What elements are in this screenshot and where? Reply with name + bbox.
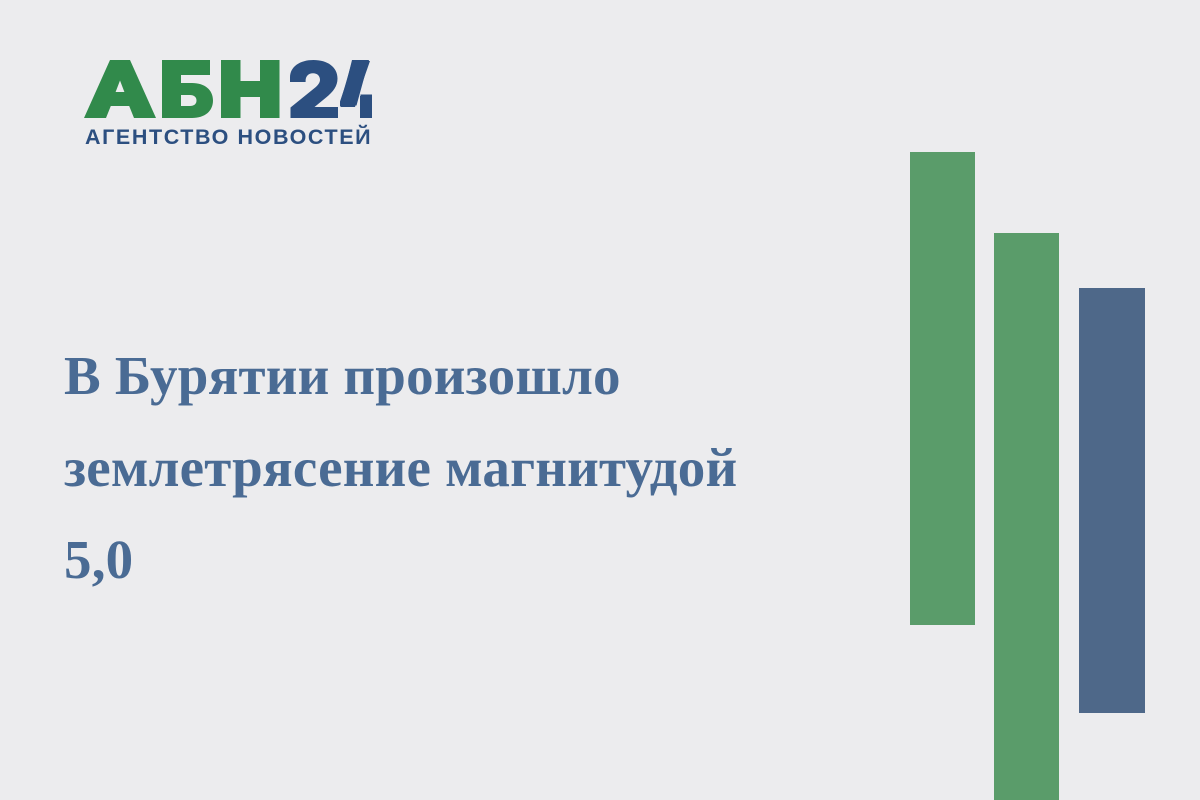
logo-tagline: АГЕНТСТВО НОВОСТЕЙ	[85, 127, 374, 149]
headline-line-2: землетрясение магнитудой	[64, 422, 864, 514]
abn24-wordmark-icon	[84, 60, 372, 120]
decorative-bar-2	[994, 233, 1059, 800]
site-logo[interactable]: АГЕНТСТВО НОВОСТЕЙ	[84, 60, 374, 149]
headline-line-1: В Бурятии произошло	[64, 330, 864, 422]
headline-line-3: 5,0	[64, 514, 864, 606]
decorative-bar-1	[910, 152, 975, 625]
news-card: АГЕНТСТВО НОВОСТЕЙ В Бурятии произошло з…	[0, 0, 1200, 800]
headline: В Бурятии произошло землетрясение магнит…	[64, 330, 864, 606]
decorative-bar-3	[1079, 288, 1145, 713]
